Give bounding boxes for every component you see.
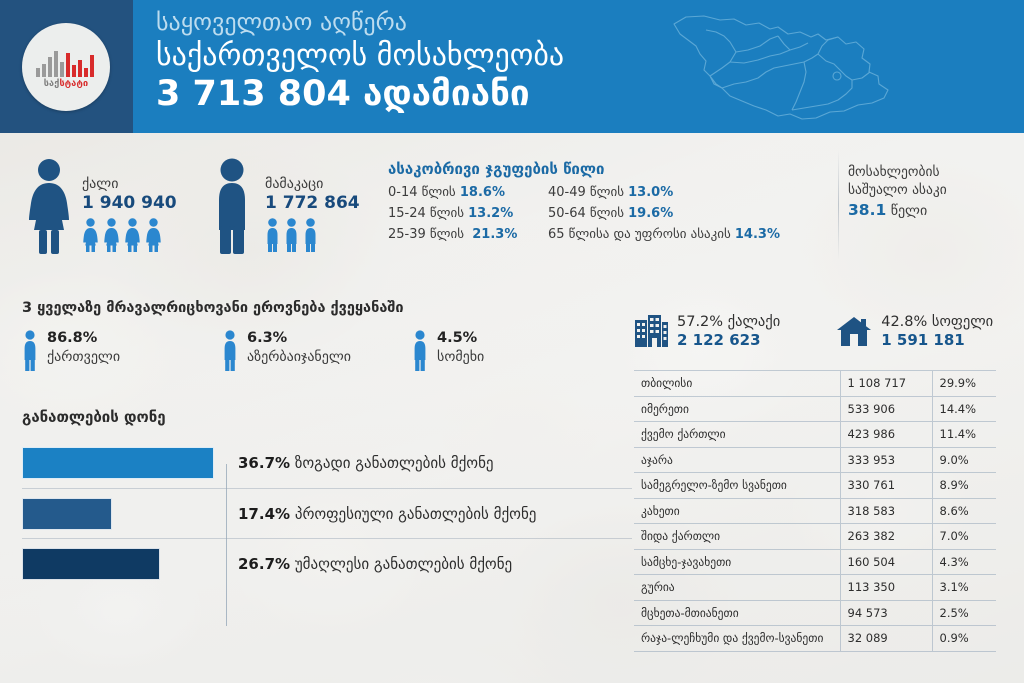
education-bar-wrap xyxy=(22,548,214,580)
region-name: თბილისი xyxy=(634,371,840,397)
region-name: იმერეთი xyxy=(634,396,840,422)
person-icon xyxy=(412,330,428,372)
age-row: 50-64 წლის 19.6% xyxy=(548,206,828,221)
region-name: კახეთი xyxy=(634,498,840,524)
logo-bar-chart-icon xyxy=(36,47,96,77)
age-pct: 19.6% xyxy=(628,206,673,221)
female-icon xyxy=(26,158,72,256)
average-age-label-line1: მოსახლეობის xyxy=(848,163,1018,181)
region-name: აჯარა xyxy=(634,447,840,473)
ethnicity-pct: 6.3% xyxy=(247,330,351,347)
education-label: 36.7% ზოგადი განათლების მქონე xyxy=(238,454,494,472)
region-name: გურია xyxy=(634,575,840,601)
region-population: 330 761 xyxy=(840,473,932,499)
average-age-unit: წელი xyxy=(891,203,928,219)
settlement-pct-rural: 42.8% სოფელი xyxy=(881,313,993,331)
average-age-value: 38.1 xyxy=(848,201,886,219)
table-row: სამეგრელო-ზემო სვანეთი330 7618.9% xyxy=(634,473,996,499)
infographic-page: საქსტატი xyxy=(0,0,1024,683)
age-range: 65 წლისა და უფროსი ასაკის xyxy=(548,227,731,242)
female-mini-icon xyxy=(82,218,99,252)
logo-word-prefix: საქ xyxy=(44,79,60,89)
age-range: 40-49 წლის xyxy=(548,185,624,200)
age-pct: 21.3% xyxy=(472,227,517,242)
ethnicity-name: სომეხი xyxy=(437,349,484,365)
average-age-block: მოსახლეობის საშუალო ასაკი 38.1 წელი xyxy=(848,163,1018,219)
education-pct: 36.7% xyxy=(238,454,290,472)
region-population: 533 906 xyxy=(840,396,932,422)
ethnicity-row: 86.8% ქართველი 6.3% აზერბაიჯანელი 4.5% ს… xyxy=(22,330,622,372)
male-mini-icon-group xyxy=(265,218,360,252)
settlement-item-rural: 42.8% სოფელი 1 591 181 xyxy=(836,313,993,350)
region-pct: 2.5% xyxy=(932,600,996,626)
region-population: 32 089 xyxy=(840,626,932,652)
age-row: 40-49 წლის 13.0% xyxy=(548,185,828,200)
region-pct: 7.0% xyxy=(932,524,996,550)
male-mini-icon xyxy=(303,218,318,252)
education-title: განათლების დონე xyxy=(22,408,632,426)
gender-block-female: ქალი 1 940 940 xyxy=(26,158,177,256)
male-mini-icon xyxy=(265,218,280,252)
ethnicity-item: 6.3% აზერბაიჯანელი xyxy=(222,330,412,372)
region-population: 423 986 xyxy=(840,422,932,448)
region-name: მცხეთა-მთიანეთი xyxy=(634,600,840,626)
table-row: იმერეთი533 90614.4% xyxy=(634,396,996,422)
ethnicity-item: 4.5% სომეხი xyxy=(412,330,484,372)
education-pct: 26.7% xyxy=(238,555,290,573)
education-bar xyxy=(22,548,160,580)
male-mini-icon xyxy=(284,218,299,252)
education-bar xyxy=(22,498,112,530)
gender-value-female: 1 940 940 xyxy=(82,193,177,213)
education-bar-wrap xyxy=(22,498,214,530)
region-pct: 11.4% xyxy=(932,422,996,448)
female-mini-icon xyxy=(124,218,141,252)
education-bar-wrap xyxy=(22,447,214,479)
education-bar xyxy=(22,447,214,479)
age-range: 50-64 წლის xyxy=(548,206,624,221)
region-pct: 14.4% xyxy=(932,396,996,422)
region-pct: 8.6% xyxy=(932,498,996,524)
gender-value-male: 1 772 864 xyxy=(265,193,360,213)
header-title-panel: საყოველთაო აღწერა საქართველოს მოსახლეობა… xyxy=(133,0,1024,133)
age-row: 0-14 წლის 18.6% xyxy=(388,185,548,200)
gender-label-female: ქალი xyxy=(82,176,177,192)
table-row: ქვემო ქართლი423 98611.4% xyxy=(634,422,996,448)
table-row: აჯარა333 9539.0% xyxy=(634,447,996,473)
region-population: 94 573 xyxy=(840,600,932,626)
georgia-regions-map xyxy=(666,6,1016,131)
header: საქსტატი xyxy=(0,0,1024,133)
education-row: 17.4% პროფესიული განათლების მქონე xyxy=(22,488,632,538)
age-range: 0-14 წლის xyxy=(388,185,456,200)
person-icon xyxy=(22,330,38,372)
header-population-number: 3 713 804 ადამიანი xyxy=(156,74,564,114)
logo-wordmark: საქსტატი xyxy=(33,79,99,89)
region-population: 333 953 xyxy=(840,447,932,473)
region-population: 1 108 717 xyxy=(840,371,932,397)
region-population: 263 382 xyxy=(840,524,932,550)
table-row: მცხეთა-მთიანეთი94 5732.5% xyxy=(634,600,996,626)
sakstat-logo: საქსტატი xyxy=(22,23,110,111)
education-label: 17.4% პროფესიული განათლების მქონე xyxy=(238,505,536,523)
ethnicity-title: 3 ყველაზე მრავალრიცხოვანი ეროვნება ქვეყა… xyxy=(22,300,622,316)
table-row: თბილისი1 108 71729.9% xyxy=(634,371,996,397)
region-population: 113 350 xyxy=(840,575,932,601)
logo-word-suffix: სტატი xyxy=(59,79,88,89)
ethnicity-pct: 86.8% xyxy=(47,330,120,347)
ethnicity-item: 86.8% ქართველი xyxy=(22,330,222,372)
region-name: რაჯა-ლეჩხუმი და ქვემო-სვანეთი xyxy=(634,626,840,652)
average-age-value-row: 38.1 წელი xyxy=(848,201,1018,219)
education-text: პროფესიული განათლების მქონე xyxy=(295,505,537,523)
region-pct: 29.9% xyxy=(932,371,996,397)
gender-label-male: მამაკაცი xyxy=(265,176,360,192)
female-mini-icon xyxy=(145,218,162,252)
age-pct: 13.2% xyxy=(468,206,513,221)
settlement-item-urban: 57.2% ქალაქი 2 122 623 xyxy=(634,313,780,350)
region-pct: 0.9% xyxy=(932,626,996,652)
age-row: 25-39 წლის 21.3% xyxy=(388,227,548,242)
region-population: 160 504 xyxy=(840,549,932,575)
header-title: საქართველოს მოსახლეობა xyxy=(156,37,564,75)
settlement-number-rural: 1 591 181 xyxy=(881,331,993,350)
age-groups-block: ასაკობრივი ჯგუფების წილი 0-14 წლის 18.6%… xyxy=(388,160,828,242)
ethnicity-name: ქართველი xyxy=(47,349,120,365)
region-pct: 8.9% xyxy=(932,473,996,499)
house-icon xyxy=(836,315,872,347)
person-icon xyxy=(222,330,238,372)
education-block: განათლების დონე 36.7% ზოგადი განათლების … xyxy=(22,408,632,588)
education-text: უმაღლესი განათლების მქონე xyxy=(295,555,512,573)
city-buildings-icon xyxy=(634,314,668,348)
settlement-number-urban: 2 122 623 xyxy=(677,331,780,350)
education-bar-chart: 36.7% ზოგადი განათლების მქონე 17.4% პროფ… xyxy=(22,438,632,588)
regions-table: თბილისი1 108 71729.9%იმერეთი533 90614.4%… xyxy=(634,370,996,652)
vertical-divider xyxy=(838,150,839,260)
region-pct: 9.0% xyxy=(932,447,996,473)
age-row: 65 წლისა და უფროსი ასაკის 14.3% xyxy=(548,227,828,242)
ethnicity-name: აზერბაიჯანელი xyxy=(247,349,351,365)
region-name: შიდა ქართლი xyxy=(634,524,840,550)
education-row: 26.7% უმაღლესი განათლების მქონე xyxy=(22,538,632,588)
female-mini-icon xyxy=(103,218,120,252)
ethnicity-pct: 4.5% xyxy=(437,330,484,347)
table-row: გურია113 3503.1% xyxy=(634,575,996,601)
education-row: 36.7% ზოგადი განათლების მქონე xyxy=(22,438,632,488)
region-population: 318 583 xyxy=(840,498,932,524)
ethnicity-block: 3 ყველაზე მრავალრიცხოვანი ეროვნება ქვეყა… xyxy=(22,300,622,372)
title-group: საყოველთაო აღწერა საქართველოს მოსახლეობა… xyxy=(156,9,564,114)
settlement-pct-urban: 57.2% ქალაქი xyxy=(677,313,780,331)
region-pct: 3.1% xyxy=(932,575,996,601)
age-pct: 18.6% xyxy=(460,185,505,200)
region-name: ქვემო ქართლი xyxy=(634,422,840,448)
region-name: სამცხე-ჯავახეთი xyxy=(634,549,840,575)
female-mini-icon-group xyxy=(82,218,177,252)
male-icon xyxy=(209,158,255,256)
table-row: რაჯა-ლეჩხუმი და ქვემო-სვანეთი32 0890.9% xyxy=(634,626,996,652)
age-range: 15-24 წლის xyxy=(388,206,464,221)
header-subtitle: საყოველთაო აღწერა xyxy=(156,9,564,37)
header-logo-panel: საქსტატი xyxy=(0,0,133,133)
education-pct: 17.4% xyxy=(238,505,290,523)
age-range: 25-39 წლის xyxy=(388,227,464,242)
age-groups-grid: 0-14 წლის 18.6% 40-49 წლის 13.0% 15-24 წ… xyxy=(388,185,828,242)
education-text: ზოგადი განათლების მქონე xyxy=(295,454,494,472)
age-pct: 13.0% xyxy=(628,185,673,200)
settlement-block: 57.2% ქალაქი 2 122 623 42.8% სოფელი 1 59… xyxy=(634,313,993,350)
education-label: 26.7% უმაღლესი განათლების მქონე xyxy=(238,555,512,573)
age-groups-title: ასაკობრივი ჯგუფების წილი xyxy=(388,160,828,178)
age-pct: 14.3% xyxy=(735,227,780,242)
table-row: შიდა ქართლი263 3827.0% xyxy=(634,524,996,550)
age-row: 15-24 წლის 13.2% xyxy=(388,206,548,221)
gender-block-male: მამაკაცი 1 772 864 xyxy=(209,158,360,256)
table-row: კახეთი318 5838.6% xyxy=(634,498,996,524)
average-age-label-line2: საშუალო ასაკი xyxy=(848,181,1018,199)
table-row: სამცხე-ჯავახეთი160 5044.3% xyxy=(634,549,996,575)
region-name: სამეგრელო-ზემო სვანეთი xyxy=(634,473,840,499)
region-pct: 4.3% xyxy=(932,549,996,575)
